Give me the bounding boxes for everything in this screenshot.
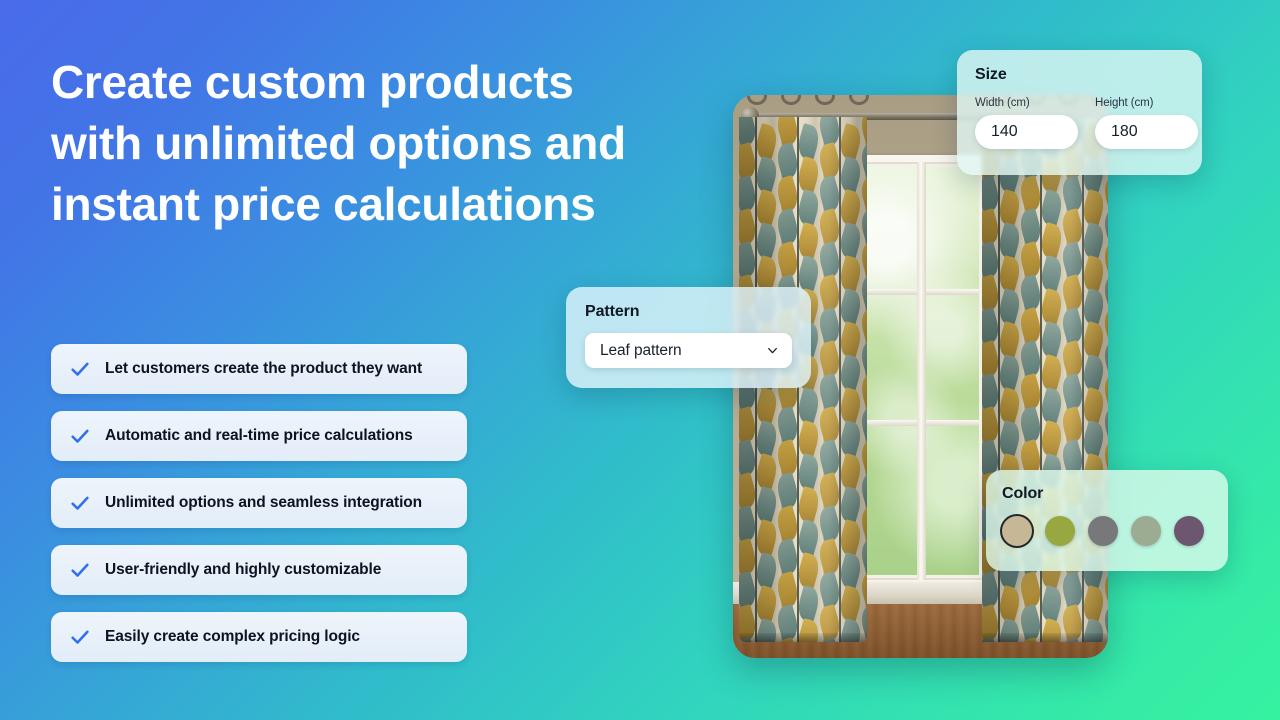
check-icon — [69, 559, 91, 581]
size-panel: Size Width (cm) 140 Height (cm) 180 — [957, 50, 1202, 175]
list-item: Let customers create the product they wa… — [51, 344, 467, 394]
feature-label: User-friendly and highly customizable — [105, 561, 381, 579]
feature-label: Unlimited options and seamless integrati… — [105, 494, 422, 512]
window — [851, 155, 991, 587]
curtain-grommet — [747, 95, 767, 105]
list-item: User-friendly and highly customizable — [51, 545, 467, 595]
height-input[interactable]: 180 — [1095, 115, 1198, 149]
pattern-select[interactable]: Leaf pattern — [585, 333, 792, 368]
curtain-hem — [982, 633, 1108, 642]
leaf-motif-column — [861, 117, 867, 642]
list-item: Easily create complex pricing logic — [51, 612, 467, 662]
height-label: Height (cm) — [1095, 97, 1198, 109]
color-swatch-gray[interactable] — [1088, 516, 1118, 546]
pattern-select-value: Leaf pattern — [600, 342, 682, 360]
color-panel-title: Color — [1002, 485, 1228, 503]
pattern-panel-title: Pattern — [585, 303, 811, 321]
pattern-panel: Pattern Leaf pattern — [566, 287, 811, 388]
color-swatch-row — [1002, 516, 1228, 546]
feature-list: Let customers create the product they wa… — [51, 344, 467, 662]
color-swatch-sage[interactable] — [1131, 516, 1161, 546]
color-swatch-purple[interactable] — [1174, 516, 1204, 546]
size-panel-title: Size — [975, 66, 1184, 84]
feature-label: Easily create complex pricing logic — [105, 628, 360, 646]
width-label: Width (cm) — [975, 97, 1078, 109]
feature-label: Let customers create the product they wa… — [105, 360, 422, 378]
size-fields: Width (cm) 140 Height (cm) 180 — [975, 97, 1184, 149]
curtain-grommet — [781, 95, 801, 105]
width-input[interactable]: 140 — [975, 115, 1078, 149]
page-title: Create custom products with unlimited op… — [51, 52, 631, 235]
feature-label: Automatic and real-time price calculatio… — [105, 427, 413, 445]
width-field-group: Width (cm) 140 — [975, 97, 1078, 149]
curtain-grommet — [849, 95, 869, 105]
curtain-hem — [739, 633, 867, 642]
leaf-motif-column — [819, 117, 861, 642]
color-swatch-olive[interactable] — [1045, 516, 1075, 546]
window-mullion — [917, 162, 926, 580]
list-item: Automatic and real-time price calculatio… — [51, 411, 467, 461]
list-item: Unlimited options and seamless integrati… — [51, 478, 467, 528]
hero-text-column: Create custom products with unlimited op… — [51, 52, 671, 235]
check-icon — [69, 626, 91, 648]
color-swatch-tan[interactable] — [1002, 516, 1032, 546]
check-icon — [69, 425, 91, 447]
color-panel: Color — [986, 470, 1228, 571]
curtain-grommet — [815, 95, 835, 105]
check-icon — [69, 492, 91, 514]
height-field-group: Height (cm) 180 — [1095, 97, 1198, 149]
check-icon — [69, 358, 91, 380]
chevron-down-icon — [766, 344, 779, 357]
